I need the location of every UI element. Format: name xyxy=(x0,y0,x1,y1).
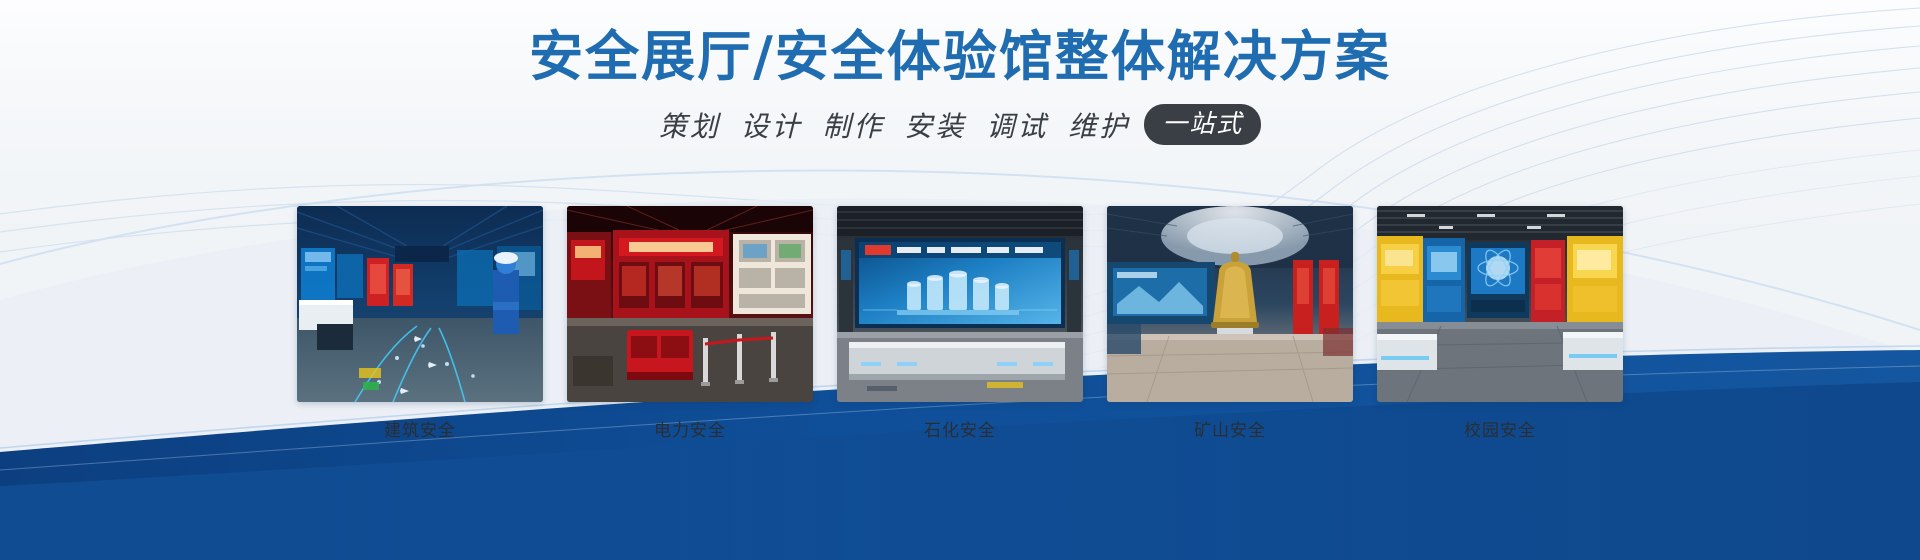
status-badge: 一站式 xyxy=(1144,104,1261,145)
thumbnail-gallery: 建筑安全 xyxy=(0,206,1920,441)
headline-block: 安全展厅/安全体验馆整体解决方案 策划 设计 制作 安装 调试 维护 一站式 xyxy=(0,26,1920,145)
electric-power-safety-exhibition-hall-photo[interactable] xyxy=(567,206,813,402)
page-title: 安全展厅/安全体验馆整体解决方案 xyxy=(0,26,1920,88)
gallery-card[interactable]: 校园安全 xyxy=(1377,206,1623,441)
subtitle-words: 策划 设计 制作 安装 调试 维护 xyxy=(659,105,1131,145)
subtitle-row: 策划 设计 制作 安装 调试 维护 一站式 xyxy=(0,104,1920,145)
campus-safety-exhibition-hall-photo[interactable] xyxy=(1377,206,1623,402)
card-caption: 校园安全 xyxy=(1377,416,1623,441)
gallery-card[interactable]: 电力安全 xyxy=(567,206,813,441)
construction-safety-exhibition-hall-photo[interactable] xyxy=(297,206,543,402)
gallery-card[interactable]: 矿山安全 xyxy=(1107,206,1353,441)
petrochemical-safety-exhibition-hall-photo[interactable] xyxy=(837,206,1083,402)
mining-safety-exhibition-hall-photo[interactable] xyxy=(1107,206,1353,402)
card-caption: 建筑安全 xyxy=(297,416,543,441)
gallery-card[interactable]: 建筑安全 xyxy=(297,206,543,441)
promo-banner: 安全展厅/安全体验馆整体解决方案 策划 设计 制作 安装 调试 维护 一站式 xyxy=(0,0,1920,560)
card-caption: 电力安全 xyxy=(567,416,813,441)
gallery-card[interactable]: 石化安全 xyxy=(837,206,1083,441)
card-caption: 矿山安全 xyxy=(1107,416,1353,441)
card-caption: 石化安全 xyxy=(837,416,1083,441)
